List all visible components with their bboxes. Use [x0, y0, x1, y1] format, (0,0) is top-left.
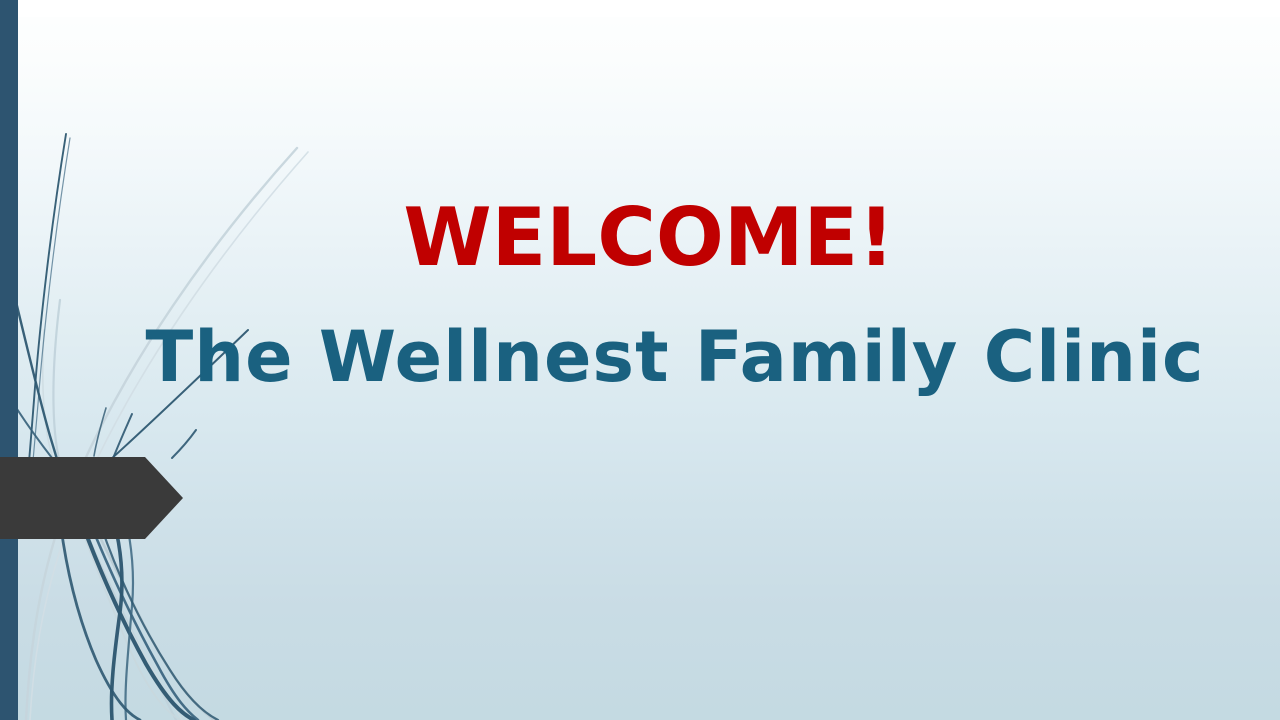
- title-slide: WELCOME! The Wellnest Family Clinic: [0, 0, 1280, 720]
- left-accent-bar: [0, 0, 18, 720]
- title-block: WELCOME! The Wellnest Family Clinic: [18, 195, 1280, 396]
- welcome-heading: WELCOME!: [18, 195, 1280, 281]
- arrow-banner-shape: [0, 457, 183, 539]
- top-white-band: [18, 0, 1280, 17]
- clinic-name-heading: The Wellnest Family Clinic: [18, 281, 1280, 396]
